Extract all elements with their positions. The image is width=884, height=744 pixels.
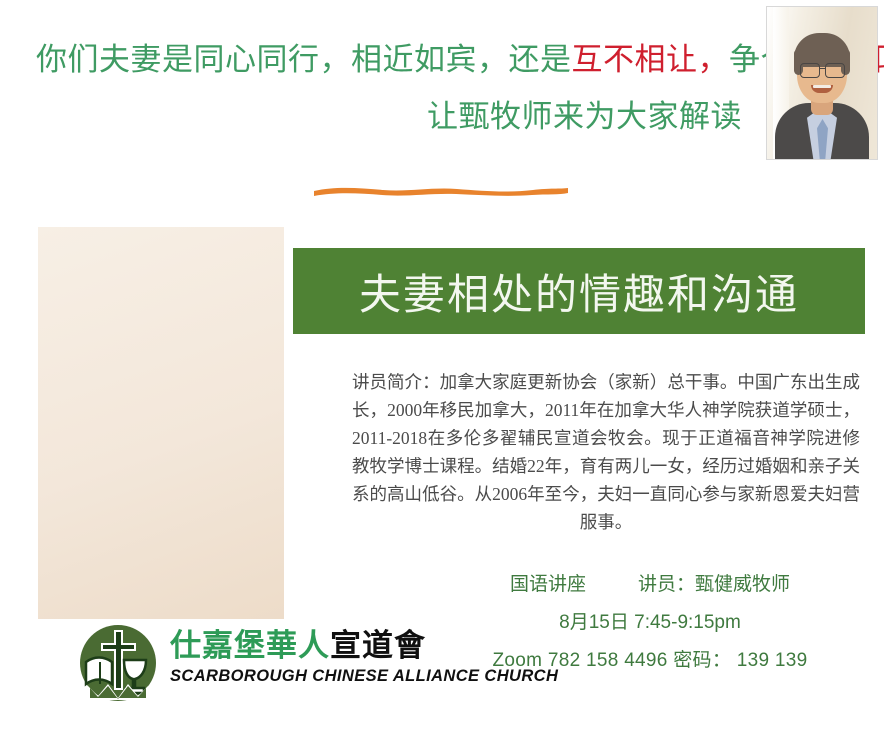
speaker-label: 讲员：甄健威牧师: [638, 566, 790, 604]
glasses-icon: [798, 63, 846, 76]
church-emblem: [78, 624, 158, 702]
speaker-portrait-photo: [766, 6, 878, 160]
glasses-lens-left: [800, 63, 820, 78]
portrait-teeth: [813, 85, 831, 88]
church-logo: 仕嘉堡華人宣道會 SCARBOROUGH CHINESE ALLIANCE CH…: [78, 624, 478, 702]
couple-illustration: [38, 227, 284, 619]
language-label: 国语讲座: [510, 566, 586, 604]
speaker-bio-paragraph: 讲员简介：加拿大家庭更新协会（家新）总干事。中国广东出生成长，2000年移民加拿…: [352, 368, 860, 536]
headline-accent-1: 互不相让，: [572, 42, 730, 77]
title-banner: 夫妻相处的情趣和沟通: [293, 248, 865, 334]
church-logo-text: 仕嘉堡華人宣道會 SCARBOROUGH CHINESE ALLIANCE CH…: [170, 626, 558, 686]
church-name-english: SCARBOROUGH CHINESE ALLIANCE CHURCH: [170, 667, 558, 686]
headline-segment-1: 你们夫妻是同心同行，相近如宾，还是: [36, 42, 572, 77]
event-info-row-language-speaker: 国语讲座 讲员：甄健威牧师: [440, 566, 860, 604]
church-name-chinese-black: 宣道會: [330, 628, 426, 663]
church-name-chinese-green: 仕嘉堡華人: [170, 628, 330, 663]
illustration-room-background: [38, 227, 284, 619]
brush-stroke-icon: [311, 180, 571, 202]
banner-title-text: 夫妻相处的情趣和沟通: [359, 261, 799, 322]
poster-canvas: 你们夫妻是同心同行，相近如宾，还是互不相让，争个面红耳赤？ 让甄牧师来为大家解读: [0, 0, 884, 744]
orange-brush-divider: [311, 180, 571, 202]
church-name-chinese: 仕嘉堡華人宣道會: [170, 626, 558, 666]
glasses-lens-right: [825, 63, 845, 78]
cross-book-chalice-icon: [78, 624, 158, 702]
headline-line-1: 你们夫妻是同心同行，相近如宾，还是互不相让，争个面红耳赤？: [36, 38, 742, 82]
glasses-bridge: [819, 68, 826, 69]
headline-line-2: 让甄牧师来为大家解读: [36, 95, 742, 139]
